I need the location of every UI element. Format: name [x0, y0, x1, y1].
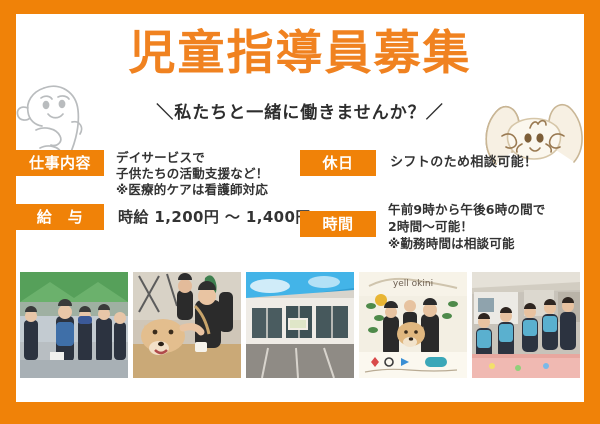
info-section: 仕事内容 デイサービスで 子供たちの活動支援など！ ※医療的ケアは看護師対応 給… [16, 142, 584, 260]
svg-text:yell okini: yell okini [393, 279, 433, 289]
photo-group-with-dog-decor: yell okini [359, 272, 467, 378]
photo-outdoor-event [20, 272, 128, 378]
info-row-holiday: 休日 シフトのため相談可能！ [300, 150, 584, 176]
recruitment-poster: 児童指導員募集 ＼私たちと一緒に働きませんか？／ [0, 0, 600, 424]
value-hours: 午前9時から午後6時の間で 2時間〜可能！ ※勤務時間は相談可能 [388, 201, 546, 252]
info-row-salary: 給 与 時給 1,200円 ～ 1,400円 [16, 204, 300, 230]
photo-staff-with-dog [133, 272, 241, 378]
value-holiday: シフトのため相談可能！ [390, 150, 537, 176]
info-column-left: 仕事内容 デイサービスで 子供たちの活動支援など！ ※医療的ケアは看護師対応 給… [16, 142, 300, 260]
value-salary: 時給 1,200円 ～ 1,400円 [118, 204, 311, 230]
photo-strip: yell okini [20, 272, 580, 378]
info-row-job-content: 仕事内容 デイサービスで 子供たちの活動支援など！ ※医療的ケアは看護師対応 [16, 150, 300, 198]
info-column-right: 休日 シフトのため相談可能！ 時間 午前9時から午後6時の間で 2時間〜可能！ … [300, 142, 584, 260]
poster-canvas: 児童指導員募集 ＼私たちと一緒に働きませんか？／ [16, 14, 584, 402]
tag-hours: 時間 [300, 211, 376, 237]
page-title: 児童指導員募集 [16, 30, 584, 77]
photo-team-outdoors [472, 272, 580, 378]
poster-header: 児童指導員募集 ＼私たちと一緒に働きませんか？／ [16, 14, 584, 142]
value-job-content: デイサービスで 子供たちの活動支援など！ ※医療的ケアは看護師対応 [116, 150, 268, 198]
tag-job-content: 仕事内容 [16, 150, 104, 176]
tag-holiday: 休日 [300, 150, 376, 176]
photo-building-exterior [246, 272, 354, 378]
info-row-hours: 時間 午前9時から午後6時の間で 2時間〜可能！ ※勤務時間は相談可能 [300, 197, 584, 252]
tag-salary: 給 与 [16, 204, 104, 230]
